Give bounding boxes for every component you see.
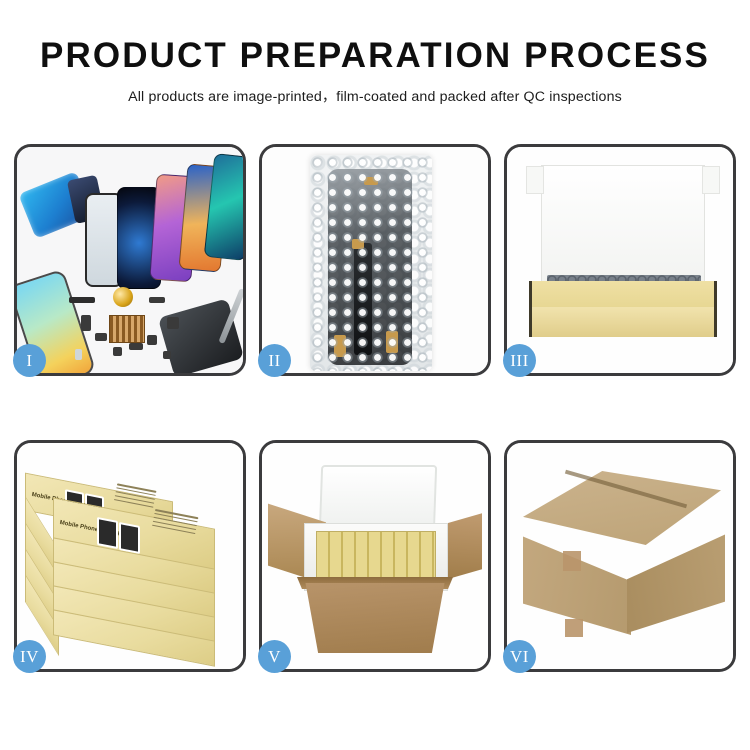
speaker-part xyxy=(69,297,95,303)
process-step-grid: I II III Mobile Ph xyxy=(14,144,736,672)
step-badge-2: II xyxy=(258,344,291,377)
small-part xyxy=(147,335,157,345)
box-lid-open xyxy=(541,165,705,287)
step-badge-5: V xyxy=(258,640,291,673)
process-step-panel-1[interactable]: I xyxy=(14,144,246,376)
process-step-panel-5[interactable]: V xyxy=(259,440,491,672)
step-badge-3: III xyxy=(503,344,536,377)
process-step-panel-6[interactable]: VI xyxy=(504,440,736,672)
vibration-motor-part xyxy=(113,287,133,307)
blue-adhesive-sticker xyxy=(18,171,93,239)
box-front-wall xyxy=(529,307,717,337)
logic-board-part xyxy=(109,315,145,343)
photo-carton-with-foam-cooler xyxy=(262,443,488,669)
photo-sealed-shipping-carton xyxy=(507,443,733,669)
box-edge xyxy=(529,281,532,337)
small-part xyxy=(95,333,107,341)
carton-body xyxy=(296,583,454,653)
photo-open-mailer-box xyxy=(507,147,733,373)
process-step-panel-2[interactable]: II xyxy=(259,144,491,376)
box-edge xyxy=(714,281,717,337)
process-step-panel-4[interactable]: Mobile Phone Spare Parts Mobile Phone Sp… xyxy=(14,440,246,672)
small-part xyxy=(113,347,122,356)
page-header: PRODUCT PREPARATION PROCESS All products… xyxy=(0,0,750,106)
step-badge-6: VI xyxy=(503,640,536,673)
small-part xyxy=(167,317,179,329)
small-part xyxy=(129,343,143,350)
bubble-wrap-texture xyxy=(310,155,432,371)
small-part xyxy=(149,297,165,303)
small-part xyxy=(75,349,82,360)
box-product-image xyxy=(97,517,118,549)
carton-tape-tab xyxy=(563,551,581,571)
step-badge-1: I xyxy=(13,344,46,377)
page-title: PRODUCT PREPARATION PROCESS xyxy=(0,38,750,75)
photo-bubble-wrapped-screen xyxy=(262,147,488,373)
step-badge-4: IV xyxy=(13,640,46,673)
carton-top-face xyxy=(523,471,721,545)
photo-phones-screens-and-parts xyxy=(17,147,243,373)
small-part xyxy=(163,351,171,359)
packed-yellow-boxes xyxy=(316,531,436,583)
photo-stacked-yellow-boxes: Mobile Phone Spare Parts Mobile Phone Sp… xyxy=(17,443,243,669)
page-subtitle: All products are image-printed，film-coat… xyxy=(0,86,750,106)
carton-tape-tab xyxy=(565,619,583,637)
box-product-image xyxy=(119,522,140,554)
small-part xyxy=(81,315,91,331)
process-step-panel-3[interactable]: III xyxy=(504,144,736,376)
